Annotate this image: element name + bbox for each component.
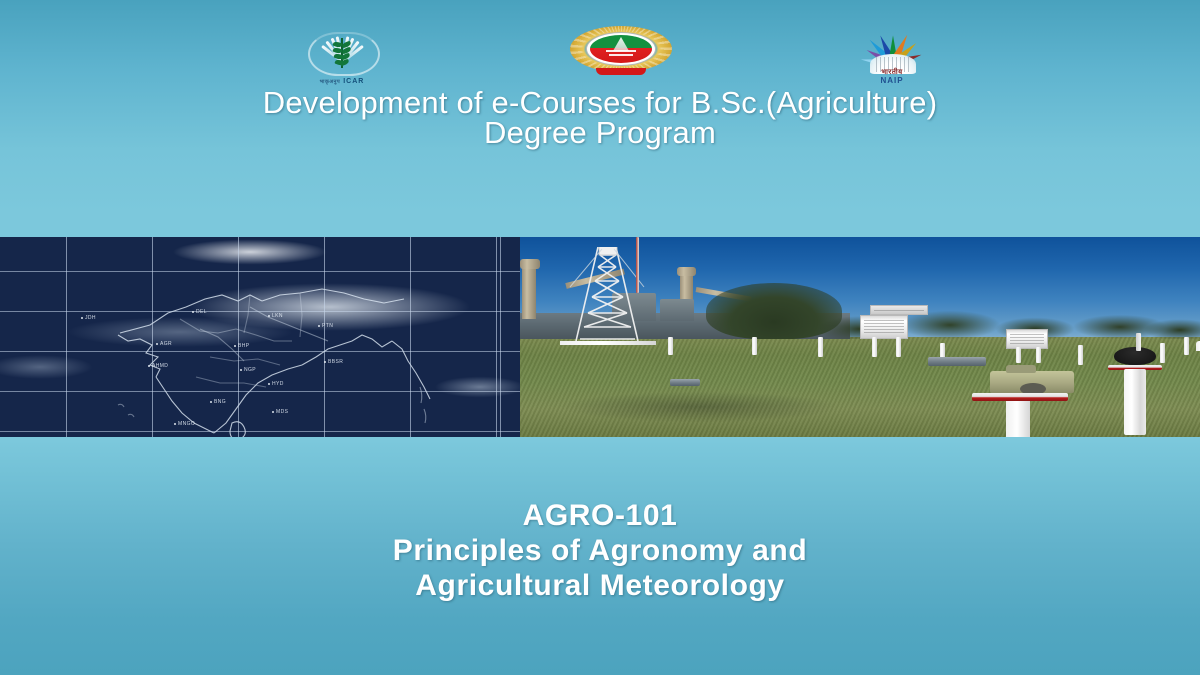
satellite-weather-map: JDH DEL LKN PTN AGR BHP AHMD NGP BBSR HY… — [0, 237, 520, 437]
marker-post — [1184, 337, 1189, 355]
marker-post — [818, 337, 823, 357]
stevenson-screen-leg — [872, 337, 877, 357]
sat-city-label: AHMD — [152, 363, 168, 369]
stevenson-screen[interactable] — [1006, 329, 1048, 349]
sunshine-recorder-top — [1006, 365, 1036, 373]
government-emblem-logo — [566, 22, 676, 78]
sat-city-label: AGR — [160, 341, 172, 347]
evaporation-pan[interactable] — [928, 357, 986, 366]
evaporation-pan[interactable] — [670, 379, 700, 386]
marker-post — [1078, 345, 1083, 365]
stevenson-screen-leg — [1036, 347, 1041, 363]
tower-base-platform — [560, 341, 656, 345]
wind-vane-cap[interactable] — [1114, 347, 1156, 365]
wind-measurement-tower[interactable] — [568, 247, 646, 343]
icar-acronym: ICAR — [343, 78, 364, 85]
stevenson-screen-leg — [1016, 347, 1021, 363]
wind-vane-mast — [1136, 333, 1141, 351]
marker-post — [668, 337, 673, 355]
sat-city-label: HYD — [272, 381, 284, 387]
emblem-base-banner — [596, 68, 646, 75]
sat-city-label: PTN — [322, 323, 333, 329]
sat-city-label: BHP — [238, 343, 249, 349]
stevenson-screen[interactable] — [860, 315, 908, 339]
latlong-grid — [0, 237, 520, 437]
sat-city-label: JDH — [85, 315, 96, 321]
storage-tank — [660, 299, 694, 321]
course-title-line2: Agricultural Meteorology — [0, 568, 1200, 603]
silo-cap — [677, 267, 696, 276]
marker-post — [1160, 343, 1165, 363]
page-title-line2: Degree Program — [0, 118, 1200, 148]
mast — [636, 237, 639, 293]
course-title-line1: Principles of Agronomy and — [0, 533, 1200, 568]
course-title: AGRO-101 Principles of Agronomy and Agri… — [0, 498, 1200, 603]
sat-city-label: DEL — [196, 309, 207, 315]
sat-city-label: LKN — [272, 313, 283, 319]
instrument-pedestal — [1006, 401, 1030, 437]
course-title-slide: भाकृअनुप ICAR — [0, 0, 1200, 675]
grass-field — [520, 337, 1200, 437]
sat-city-label: NGP — [244, 367, 256, 373]
emblem-inner-disc — [590, 35, 652, 63]
sat-city-label: BNG — [214, 399, 226, 405]
rain-gauge[interactable] — [1196, 341, 1200, 351]
wind-sleeve — [1124, 369, 1146, 435]
marker-post — [752, 337, 757, 355]
stevenson-screen-leg — [896, 337, 901, 357]
sat-city-label: MNGO — [178, 421, 195, 427]
stevenson-screen-roof — [870, 305, 928, 315]
star-logo-line2: NAIP — [836, 77, 948, 85]
silo-cap — [520, 259, 540, 269]
multicolor-star-logo: भारतीय NAIP — [836, 22, 948, 84]
icar-logo: भाकृअनुप ICAR — [296, 22, 388, 84]
silo — [522, 263, 536, 319]
logo-row: भाकृअनुप ICAR — [0, 22, 1200, 88]
sat-city-label: MDS — [276, 409, 288, 415]
page-title: Development of e-Courses for B.Sc.(Agric… — [0, 88, 1200, 148]
course-code: AGRO-101 — [0, 498, 1200, 533]
agrometeorological-observatory-photo — [520, 237, 1200, 437]
sat-city-label: BBSR — [328, 359, 343, 365]
image-band: JDH DEL LKN PTN AGR BHP AHMD NGP BBSR HY… — [0, 237, 1200, 437]
star-logo-text: भारतीय NAIP — [836, 69, 948, 85]
green-plant-icon — [334, 38, 350, 68]
instrument-mounting-table — [972, 393, 1068, 401]
